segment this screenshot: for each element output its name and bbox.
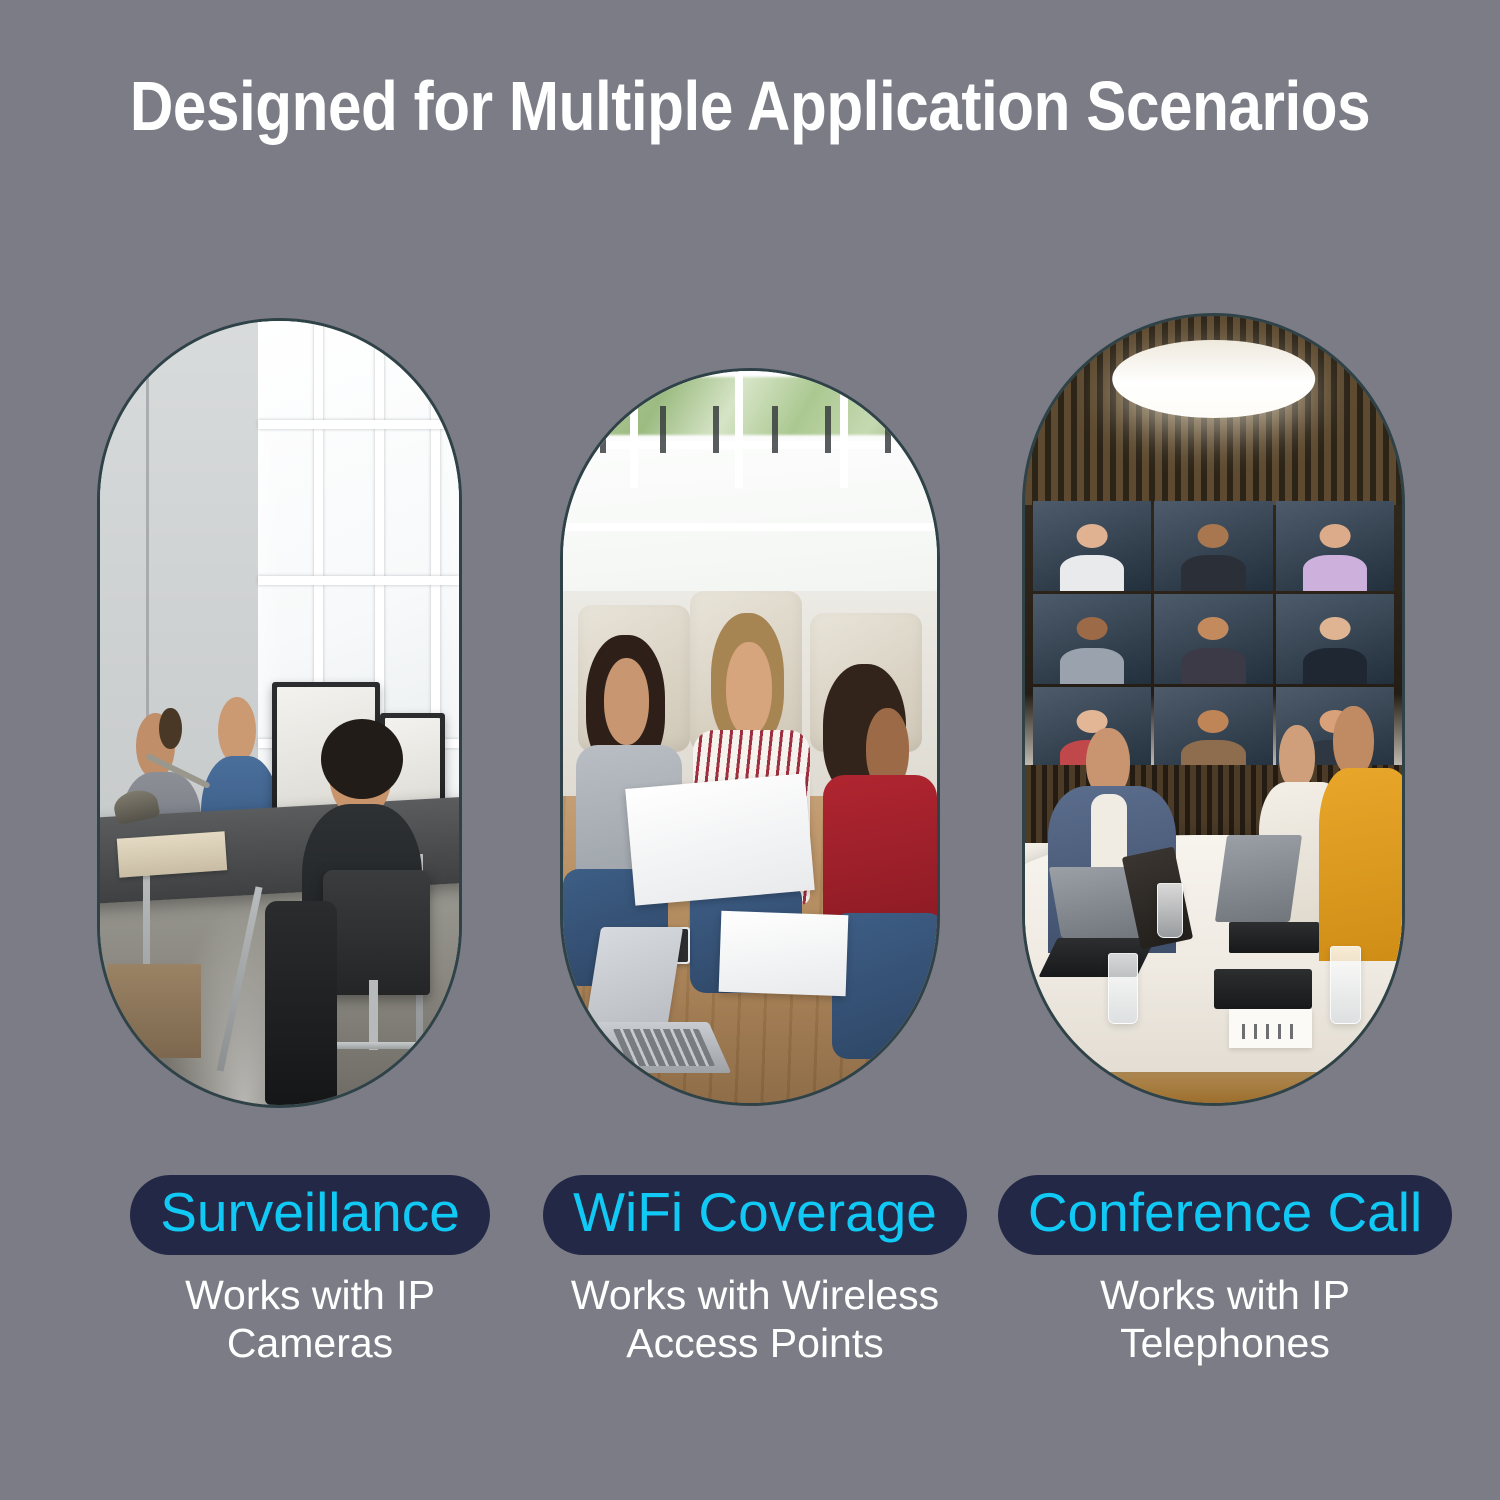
participant-head — [1198, 524, 1229, 547]
scenario-image-surveillance — [97, 318, 462, 1108]
scenario-image-row — [0, 0, 1500, 1180]
scenario-caption-row: Surveillance Works with IP Cameras WiFi … — [0, 1175, 1500, 1435]
participant-head — [1076, 524, 1107, 547]
conference-call-photo — [1025, 316, 1402, 1103]
participant-torso — [1303, 555, 1367, 591]
ceiling-light — [1112, 340, 1316, 419]
participant-head — [1198, 710, 1229, 733]
video-wall-tile — [1154, 501, 1273, 591]
participant-head — [1320, 617, 1351, 640]
scenario-subtitle-surveillance: Works with IP Cameras — [60, 1272, 560, 1368]
participant-torso — [1060, 555, 1124, 591]
scenario-subtitle-conference-call: Works with IP Telephones — [965, 1272, 1485, 1368]
video-wall-tile — [1276, 501, 1395, 591]
caption-wifi-coverage: WiFi Coverage Works with Wireless Access… — [505, 1175, 1005, 1368]
scenario-image-conference-call — [1022, 313, 1405, 1106]
video-wall-tile — [1033, 501, 1152, 591]
scenario-pill-conference-call[interactable]: Conference Call — [998, 1175, 1452, 1255]
participant-torso — [1181, 555, 1245, 591]
scenario-subtitle-wifi-coverage: Works with Wireless Access Points — [505, 1272, 1005, 1368]
scenario-pill-wifi-coverage[interactable]: WiFi Coverage — [543, 1175, 967, 1255]
caption-surveillance: Surveillance Works with IP Cameras — [60, 1175, 560, 1368]
scenario-pill-surveillance[interactable]: Surveillance — [130, 1175, 490, 1255]
video-wall-tile — [1154, 594, 1273, 684]
participant-head — [1076, 617, 1107, 640]
scenario-image-wifi-coverage — [560, 368, 940, 1106]
living-room-wifi-photo — [563, 371, 937, 1103]
participant-torso — [1181, 648, 1245, 684]
video-wall-tile — [1276, 594, 1395, 684]
participant-torso — [1303, 648, 1367, 684]
video-wall-tile — [1033, 594, 1152, 684]
participant-head — [1320, 524, 1351, 547]
caption-conference-call: Conference Call Works with IP Telephones — [965, 1175, 1485, 1368]
participant-torso — [1060, 648, 1124, 684]
office-surveillance-photo — [100, 321, 459, 1105]
participant-head — [1198, 617, 1229, 640]
